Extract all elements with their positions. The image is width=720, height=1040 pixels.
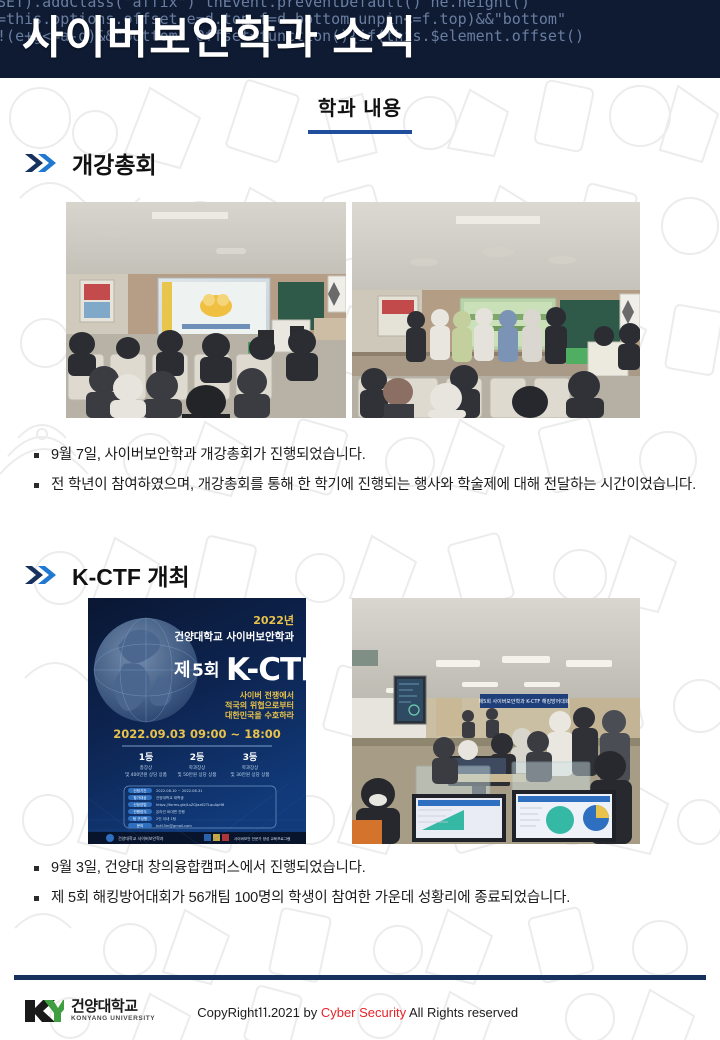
bullet-marker bbox=[34, 896, 39, 901]
double-chevron-icon bbox=[24, 152, 58, 174]
svg-text:온라인 비대면 진행: 온라인 비대면 진행 bbox=[156, 809, 185, 814]
page-title-underline bbox=[308, 130, 412, 134]
bullet-text: 9월 7일, 사이버보안학과 개강총회가 진행되었습니다. bbox=[51, 443, 366, 468]
svg-text:2022년: 2022년 bbox=[253, 613, 294, 627]
svg-text:총장상: 총장상 bbox=[140, 764, 152, 771]
copyright-notice: CopyRight⒒2021 by Cyber Security All Rig… bbox=[197, 1002, 518, 1021]
svg-text:https://forms.gle/LsZGJaz62TLq: https://forms.gle/LsZGJaz62TLquApH6 bbox=[156, 803, 225, 807]
svg-text:3등: 3등 bbox=[243, 752, 258, 763]
page-footer: 건양대학교 KONYANG UNIVERSITY CopyRight⒒2021 … bbox=[0, 988, 720, 1034]
bullet-item: 전 학년이 참여하였으며, 개강총회를 통해 한 학기에 진행되는 행사와 학술… bbox=[34, 473, 698, 498]
svg-text:및 400만원 상당 상품: 및 400만원 상당 상품 bbox=[125, 771, 167, 778]
section-heading-k-ctf: K-CTF 개최 bbox=[24, 558, 190, 592]
copyright-accent: Cyber Security bbox=[321, 1005, 406, 1020]
svg-text:및 30만원 상당 상품: 및 30만원 상당 상품 bbox=[231, 771, 270, 778]
logo-name-ko: 건양대학교 bbox=[71, 999, 155, 1014]
bullet-marker bbox=[34, 866, 39, 871]
bullet-marker bbox=[34, 453, 39, 458]
svg-text:1등: 1등 bbox=[139, 752, 154, 763]
photo-kctf-poster: 2022년 건양대학교 사이버보안학과 제 5회 K-CTF 사이버 전쟁에서 … bbox=[88, 598, 306, 844]
bullet-list-opening-ceremony: 9월 7일, 사이버보안학과 개강총회가 진행되었습니다. 전 학년이 참여하였… bbox=[34, 443, 698, 503]
svg-text:및 50만원 상당 상품: 및 50만원 상당 상품 bbox=[178, 771, 217, 778]
svg-text:2022.08.10 ~ 2022.08.31: 2022.08.10 ~ 2022.08.31 bbox=[156, 789, 202, 793]
bullet-list-k-ctf: 9월 3일, 건양대 창의융합캠퍼스에서 진행되었습니다. 제 5회 해킹방어대… bbox=[34, 856, 698, 916]
page-header-title: 사이버보안학과 소식 bbox=[22, 8, 417, 68]
svg-text:참가대상: 참가대상 bbox=[133, 795, 147, 800]
photo-opening-ceremony-stage bbox=[352, 202, 640, 418]
photo-kctf-lab: 제5회 사이버보안학과 K-CTF 해킹방어대회 bbox=[352, 598, 640, 844]
svg-text:제5회 사이버보안학과 K-CTF 해킹방어대회: 제5회 사이버보안학과 K-CTF 해킹방어대회 bbox=[479, 698, 570, 705]
copyright-prefix: CopyRight⒒2021 by bbox=[197, 1005, 321, 1020]
section-title: 개강총회 bbox=[72, 146, 157, 180]
logo-name-en: KONYANG UNIVERSITY bbox=[71, 1016, 155, 1023]
svg-text:신청기간: 신청기간 bbox=[133, 788, 147, 793]
konyang-university-logo: 건양대학교 KONYANG UNIVERSITY bbox=[24, 998, 155, 1024]
svg-text:2022.09.03 09:00 ~ 18:00: 2022.09.03 09:00 ~ 18:00 bbox=[113, 727, 281, 741]
svg-text:진행방식: 진행방식 bbox=[133, 809, 146, 814]
svg-text:적국의 위협으로부터: 적국의 위협으로부터 bbox=[225, 700, 294, 710]
bullet-text: 제 5회 해킹방어대회가 56개팀 100명의 학생이 참여한 가운데 성황리에… bbox=[51, 886, 570, 911]
page-title-block: 학과 내용 bbox=[0, 92, 720, 134]
svg-text:건양대학교 사이버보안학과: 건양대학교 사이버보안학과 bbox=[118, 835, 164, 841]
svg-text:학과장상: 학과장상 bbox=[242, 764, 259, 771]
bullet-text: 9월 3일, 건양대 창의융합캠퍼스에서 진행되었습니다. bbox=[51, 856, 366, 881]
bullet-item: 9월 7일, 사이버보안학과 개강총회가 진행되었습니다. bbox=[34, 443, 698, 468]
section-title: K-CTF 개최 bbox=[72, 558, 190, 592]
svg-text:사이버보안 전문가 양성 교육프로그램: 사이버보안 전문가 양성 교육프로그램 bbox=[234, 836, 290, 841]
svg-text:건양대학교 재학생: 건양대학교 재학생 bbox=[156, 795, 184, 800]
bullet-item: 9월 3일, 건양대 창의융합캠퍼스에서 진행되었습니다. bbox=[34, 856, 698, 881]
ky-logo-icon bbox=[24, 998, 64, 1024]
bullet-text: 전 학년이 참여하였으며, 개강총회를 통해 한 학기에 진행되는 행사와 학술… bbox=[51, 473, 696, 498]
svg-text:건양대학교 사이버보안학과: 건양대학교 사이버보안학과 bbox=[174, 630, 294, 643]
svg-text:문의: 문의 bbox=[137, 823, 144, 828]
page-title: 학과 내용 bbox=[318, 92, 402, 121]
bullet-marker bbox=[34, 483, 39, 488]
svg-text:대한민국을 수호하라: 대한민국을 수호하라 bbox=[225, 710, 295, 720]
svg-text:신청방법: 신청방법 bbox=[133, 802, 146, 807]
svg-text:2등: 2등 bbox=[190, 752, 205, 763]
svg-text:K-CTF: K-CTF bbox=[226, 652, 306, 688]
svg-text:제: 제 bbox=[174, 660, 191, 681]
photo-opening-ceremony-audience bbox=[66, 202, 346, 418]
svg-text:학과장상: 학과장상 bbox=[189, 764, 206, 771]
double-chevron-icon bbox=[24, 564, 58, 586]
footer-divider bbox=[14, 975, 706, 980]
page-header-banner: ESET).addClass("affix") thEvent.preventD… bbox=[0, 0, 720, 78]
copyright-suffix: All Rights reserved bbox=[406, 1005, 518, 1020]
svg-text:5회: 5회 bbox=[192, 661, 219, 681]
logo-text-block: 건양대학교 KONYANG UNIVERSITY bbox=[71, 999, 155, 1023]
newsletter-page: ESET).addClass("affix") thEvent.preventD… bbox=[0, 0, 720, 1040]
section-heading-opening-ceremony: 개강총회 bbox=[24, 146, 157, 180]
svg-text:사이버 전쟁에서: 사이버 전쟁에서 bbox=[240, 690, 294, 700]
bullet-item: 제 5회 해킹방어대회가 56개팀 100명의 학생이 참여한 가운데 성황리에… bbox=[34, 886, 698, 911]
